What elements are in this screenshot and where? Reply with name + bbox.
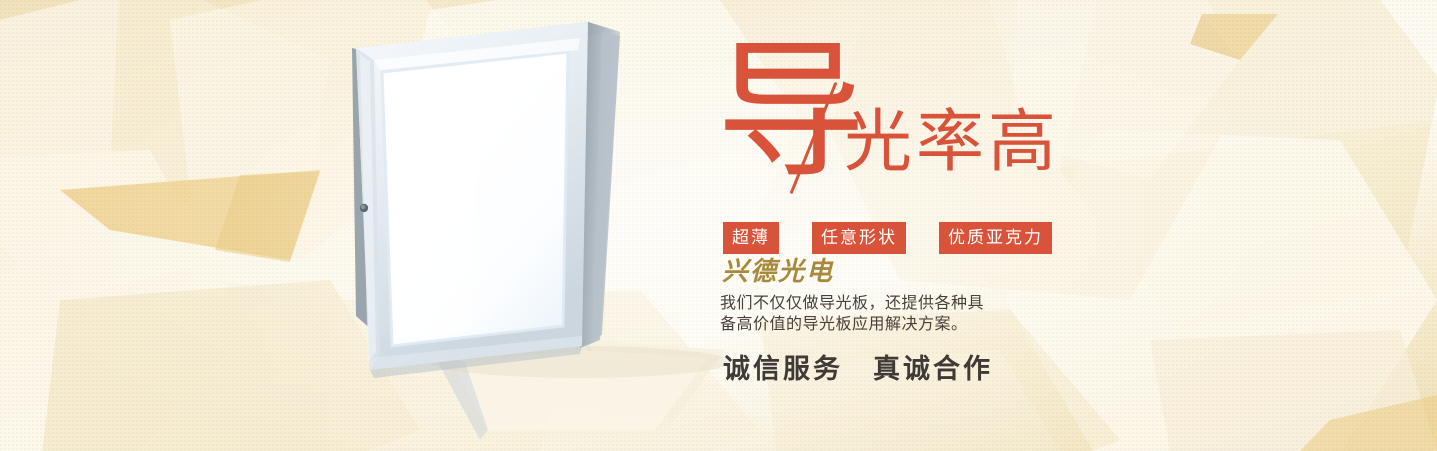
feature-badge-premium-acrylic[interactable]: 优质亚克力 xyxy=(939,222,1052,254)
description-line-2: 备高价值的导光板应用解决方案。 xyxy=(720,314,1020,335)
led-panel-illustration xyxy=(330,10,750,440)
feature-badge-any-shape[interactable]: 任意形状 xyxy=(812,222,906,254)
led-panel-product-image xyxy=(330,10,750,440)
headline-group: 导 光率高 xyxy=(716,52,1136,202)
description-line-1: 我们不仅仅做导光板，还提供各种具 xyxy=(720,293,1020,314)
promo-banner: 导 光率高 超薄 任意形状 优质亚克力 兴德光电 我们不仅仅做导光板，还提供各种… xyxy=(0,0,1437,451)
banner-content: 导 光率高 超薄 任意形状 优质亚克力 兴德光电 我们不仅仅做导光板，还提供各种… xyxy=(716,0,1416,451)
headline-secondary-characters: 光率高 xyxy=(844,108,1060,176)
company-slogan: 诚信服务 真诚合作 xyxy=(723,355,993,385)
feature-badge-list: 超薄 任意形状 优质亚克力 xyxy=(723,222,1052,254)
company-description: 我们不仅仅做导光板，还提供各种具 备高价值的导光板应用解决方案。 xyxy=(720,293,1020,335)
brand-name: 兴德光电 xyxy=(722,258,834,287)
feature-badge-ultra-thin[interactable]: 超薄 xyxy=(723,222,779,254)
